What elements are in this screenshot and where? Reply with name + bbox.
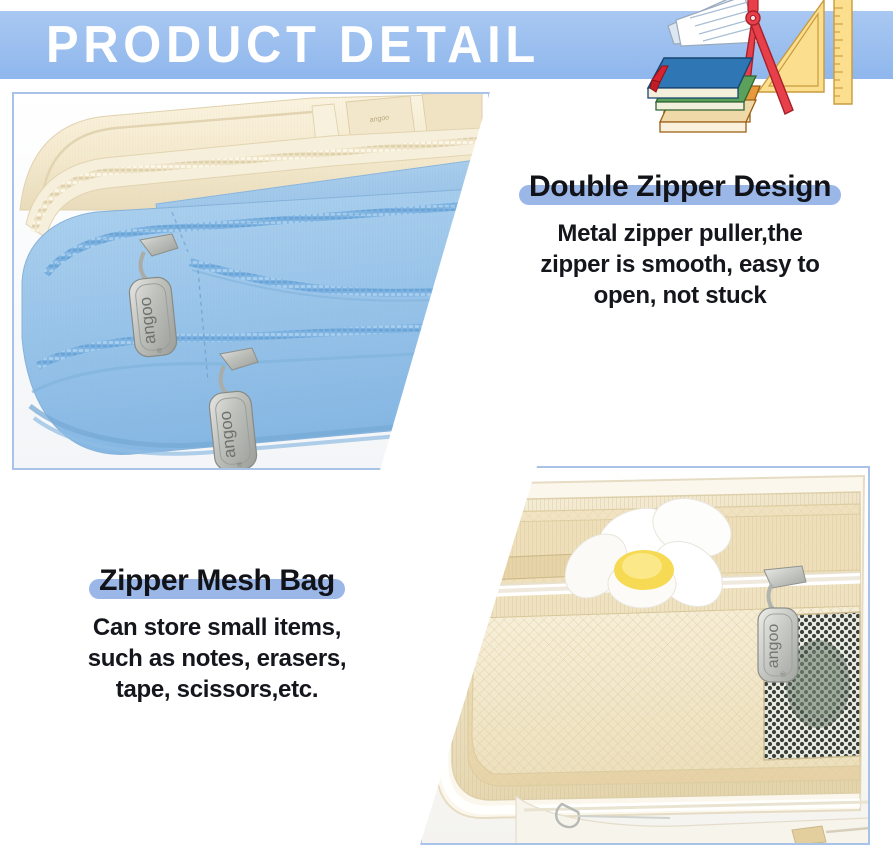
body-line: Can store small items, [22, 612, 412, 643]
body-line: zipper is smooth, easy to [480, 249, 880, 280]
body-zipper-mesh: Can store small items, such as notes, er… [22, 612, 412, 705]
page-title: PRODUCT DETAIL [46, 16, 540, 74]
heading-zipper-mesh-bag: Zipper Mesh Bag [99, 562, 335, 600]
body-double-zipper: Metal zipper puller,the zipper is smooth… [480, 218, 880, 311]
body-line: such as notes, erasers, [22, 643, 412, 674]
body-line: Metal zipper puller,the [480, 218, 880, 249]
body-line: tape, scissors,etc. [22, 674, 412, 705]
body-line: open, not stuck [480, 280, 880, 311]
mesh-pocket [472, 582, 860, 774]
photo-double-zipper: angoo angoo ® [12, 92, 490, 470]
svg-text:angoo: angoo [765, 624, 782, 669]
svg-text:®: ® [780, 671, 788, 677]
section-double-zipper-text: Double Zipper Design Metal zipper puller… [480, 168, 880, 311]
photo-zipper-mesh-bag: angoo ® [420, 466, 870, 845]
photo-double-zipper-canvas: angoo angoo ® [12, 92, 490, 470]
heading-label: Zipper Mesh Bag [99, 564, 335, 597]
section-zipper-mesh-text: Zipper Mesh Bag Can store small items, s… [22, 562, 412, 705]
photo-zipper-mesh-bag-canvas: angoo ® [420, 466, 870, 845]
heading-label: Double Zipper Design [529, 170, 831, 203]
heading-double-zipper: Double Zipper Design [529, 168, 831, 206]
